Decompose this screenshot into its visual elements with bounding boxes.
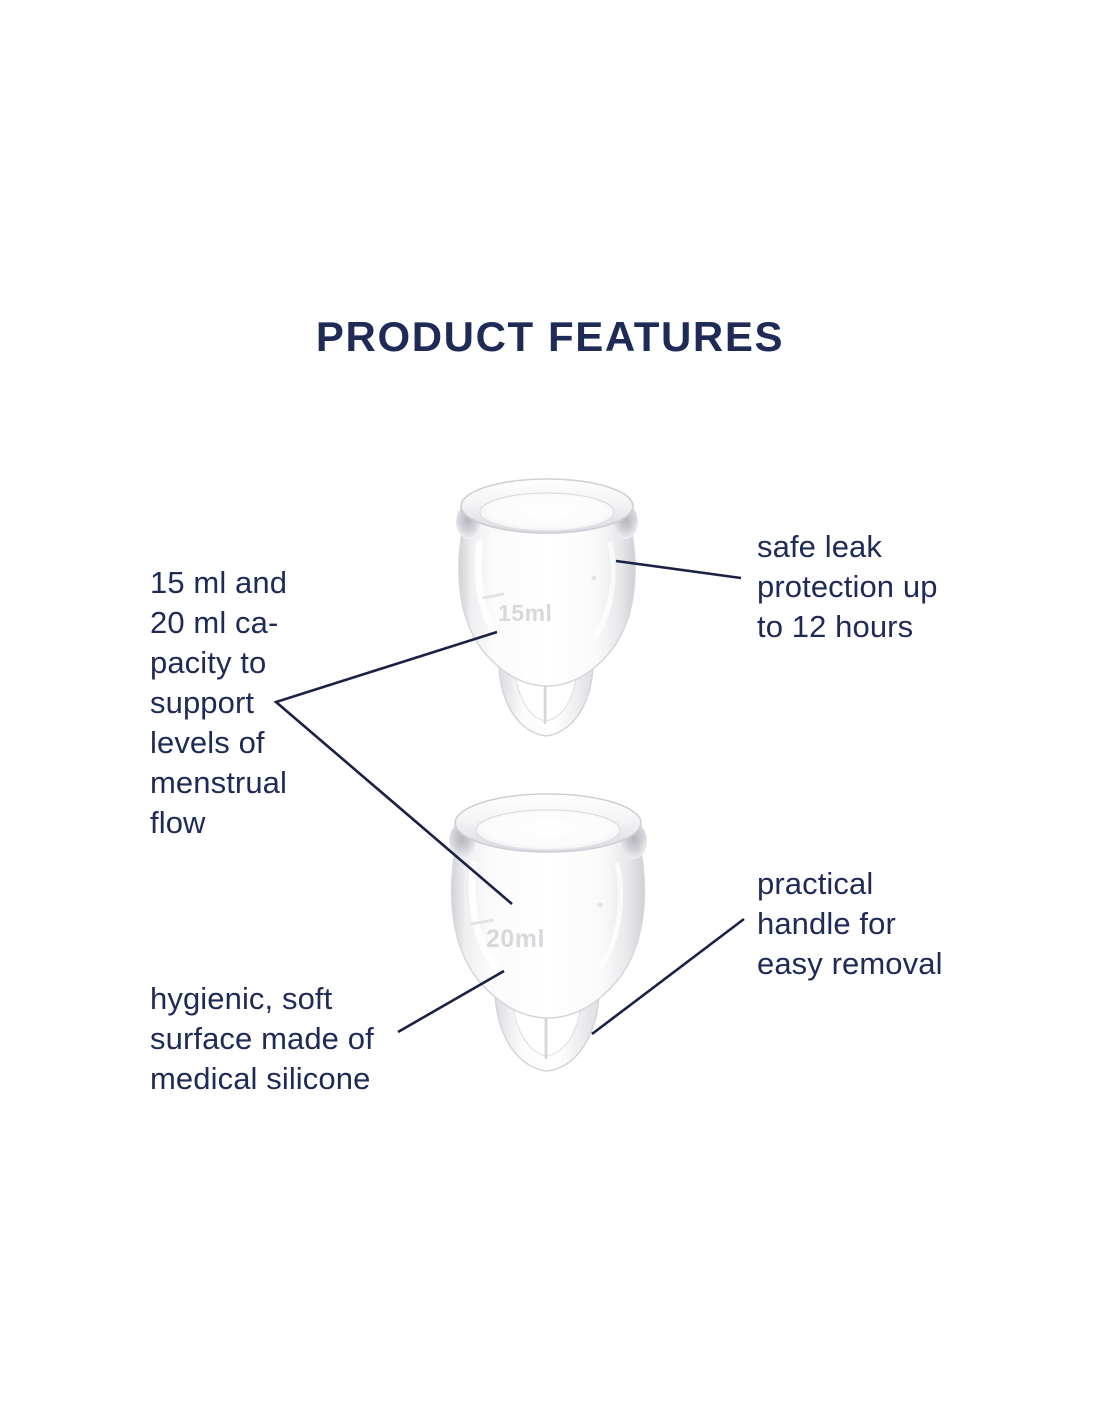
callout-capacity-line-4: support bbox=[150, 683, 410, 723]
callout-capacity-line-7: flow bbox=[150, 803, 410, 843]
menstrual-cup-15ml: 15ml bbox=[432, 470, 662, 770]
cup-opening bbox=[476, 810, 620, 850]
callout-capacity: 15 ml and 20 ml ca- pacity to support le… bbox=[150, 563, 410, 843]
callout-handle-line-3: easy removal bbox=[757, 944, 997, 984]
callout-hygienic-surface: hygienic, soft surface made of medical s… bbox=[150, 979, 440, 1099]
menstrual-cup-20ml: 20ml bbox=[424, 785, 672, 1105]
callout-hygienic-line-2: surface made of bbox=[150, 1019, 440, 1059]
callout-capacity-line-6: menstrual bbox=[150, 763, 410, 803]
page-title: PRODUCT FEATURES bbox=[0, 316, 1100, 358]
cup-15ml-graphic bbox=[432, 470, 662, 770]
callout-capacity-line-2: 20 ml ca- bbox=[150, 603, 410, 643]
callout-leak-line-2: protection up bbox=[757, 567, 1007, 607]
callout-leak-line-3: to 12 hours bbox=[757, 607, 1007, 647]
callout-capacity-line-1: 15 ml and bbox=[150, 563, 410, 603]
cup-20ml-graphic bbox=[424, 785, 672, 1105]
callout-handle-line-2: handle for bbox=[757, 904, 997, 944]
cup-opening bbox=[480, 493, 614, 531]
cup-surface-speck bbox=[591, 575, 596, 580]
cup-surface-speck bbox=[597, 902, 603, 908]
callout-hygienic-line-3: medical silicone bbox=[150, 1059, 440, 1099]
callout-leak-protection: safe leak protection up to 12 hours bbox=[757, 527, 1007, 647]
callout-capacity-line-5: levels of bbox=[150, 723, 410, 763]
callout-capacity-line-3: pacity to bbox=[150, 643, 410, 683]
callout-practical-handle: practical handle for easy removal bbox=[757, 864, 997, 984]
callout-handle-line-1: practical bbox=[757, 864, 997, 904]
callout-hygienic-line-1: hygienic, soft bbox=[150, 979, 440, 1019]
product-features-page: PRODUCT FEATURES bbox=[0, 0, 1100, 1422]
callout-leak-line-1: safe leak bbox=[757, 527, 1007, 567]
